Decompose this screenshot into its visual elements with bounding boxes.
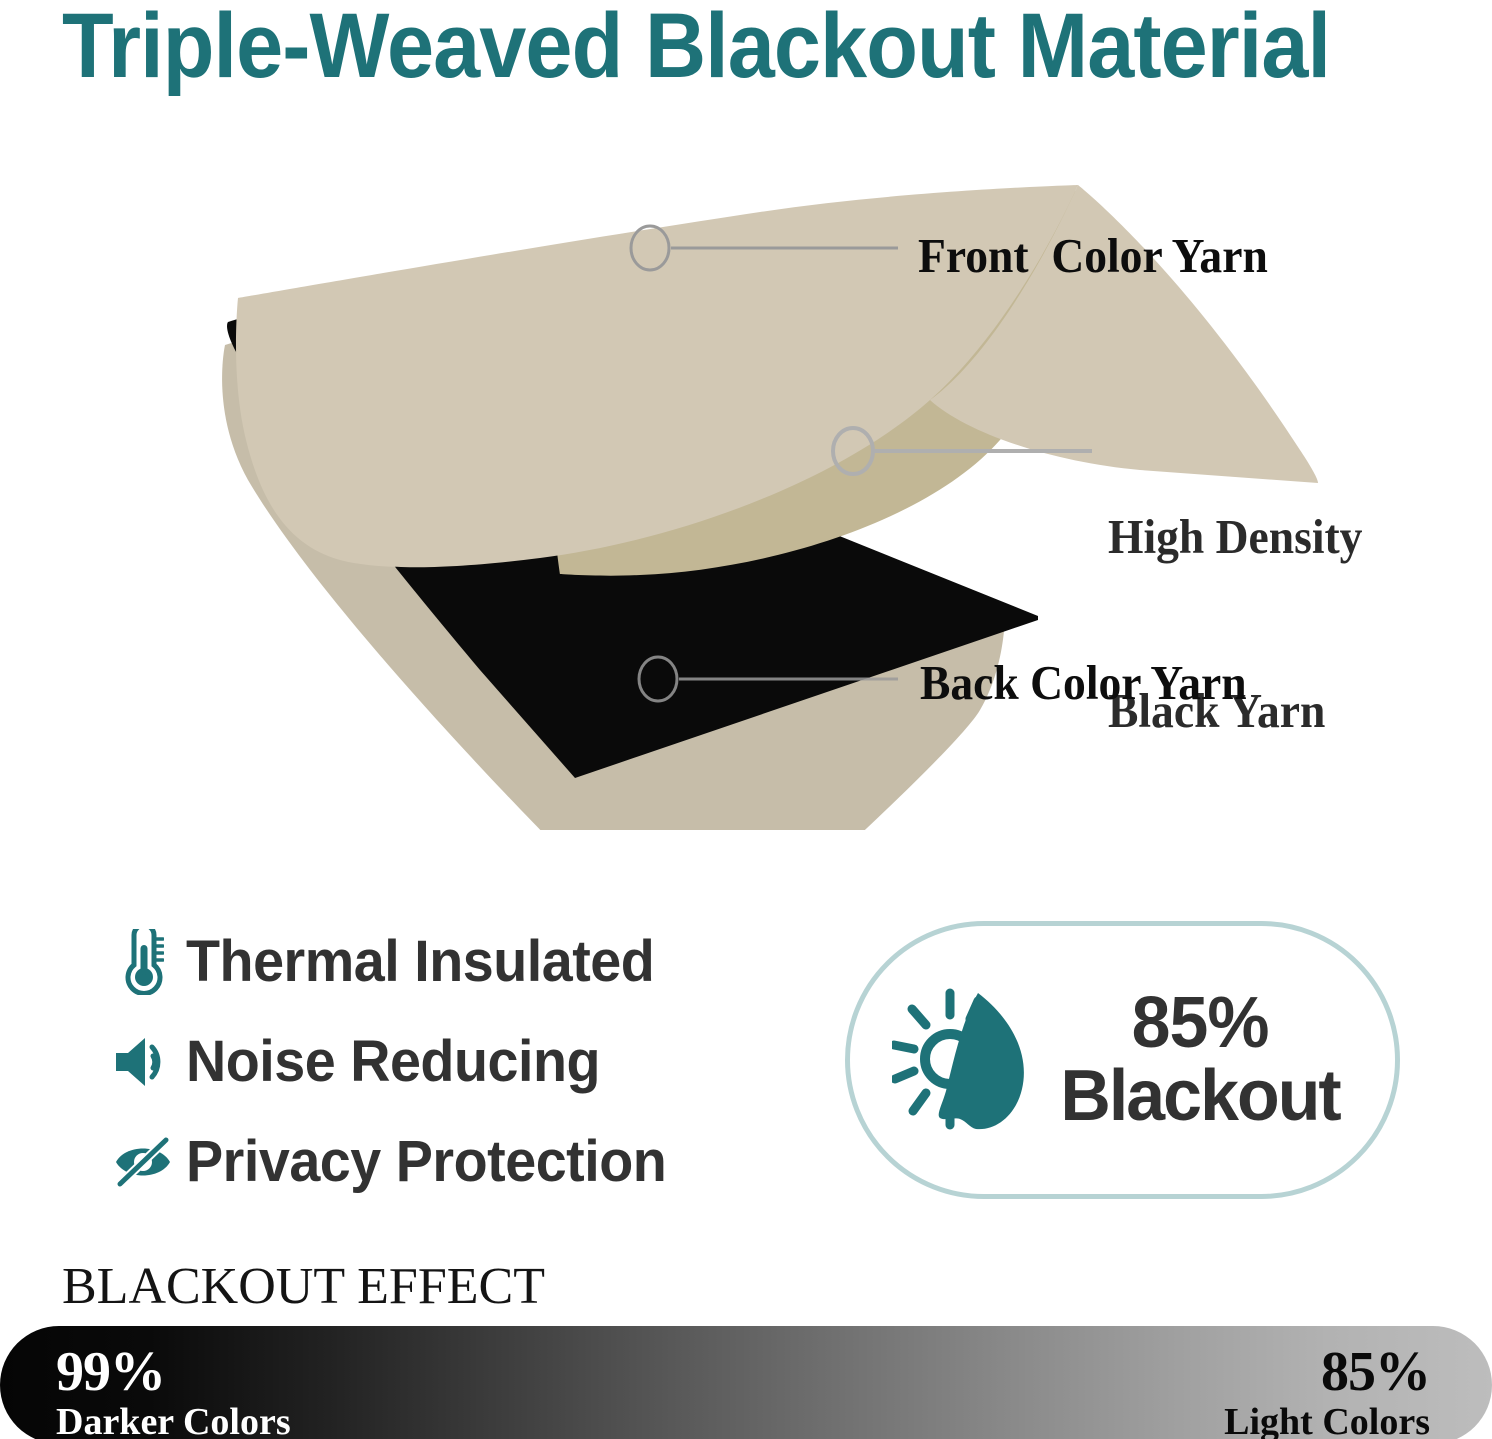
callout-label-line1: High Density bbox=[1108, 508, 1362, 566]
gradient-right-percent: 85% bbox=[1224, 1343, 1430, 1401]
eye-slash-icon bbox=[112, 1129, 186, 1195]
badge-word: Blackout bbox=[1061, 1060, 1340, 1133]
gradient-bar-right-stat: 85% Light Colors bbox=[1224, 1343, 1430, 1439]
badge-text-block: 85% Blackout bbox=[1056, 987, 1344, 1134]
feature-item-thermal-insulated: Thermal Insulated bbox=[112, 912, 812, 1012]
infographic-page: Triple-Weaved Blackout Material bbox=[0, 0, 1492, 1439]
sun-behind-curtain-icon bbox=[892, 985, 1042, 1135]
callout-label-back-color-yarn: Back Color Yarn bbox=[920, 655, 1247, 711]
gradient-bar-left-stat: 99% Darker Colors bbox=[56, 1343, 291, 1439]
page-title: Triple-Weaved Blackout Material bbox=[62, 0, 1350, 96]
speaker-volume-icon bbox=[112, 1029, 186, 1095]
feature-item-noise-reducing: Noise Reducing bbox=[112, 1012, 812, 1112]
gradient-left-percent: 99% bbox=[56, 1343, 291, 1401]
badge-percent: 85% bbox=[1061, 987, 1340, 1060]
feature-item-privacy-protection: Privacy Protection bbox=[112, 1112, 812, 1212]
callout-label-front-color-yarn: Front Color Yarn bbox=[918, 228, 1268, 284]
gradient-left-caption: Darker Colors bbox=[56, 1401, 291, 1439]
feature-label: Privacy Protection bbox=[186, 1131, 666, 1193]
callout-label-high-density-black-yarn: High Density Black Yarn bbox=[1108, 392, 1362, 856]
blackout-percentage-badge: 85% Blackout bbox=[845, 921, 1400, 1199]
gradient-right-caption: Light Colors bbox=[1224, 1401, 1430, 1439]
blackout-effect-heading: BLACKOUT EFFECT bbox=[62, 1258, 545, 1316]
feature-list: Thermal Insulated Noise Reducing bbox=[112, 912, 812, 1212]
thermometer-icon bbox=[112, 929, 186, 995]
feature-label: Thermal Insulated bbox=[186, 931, 654, 993]
feature-label: Noise Reducing bbox=[186, 1031, 600, 1093]
